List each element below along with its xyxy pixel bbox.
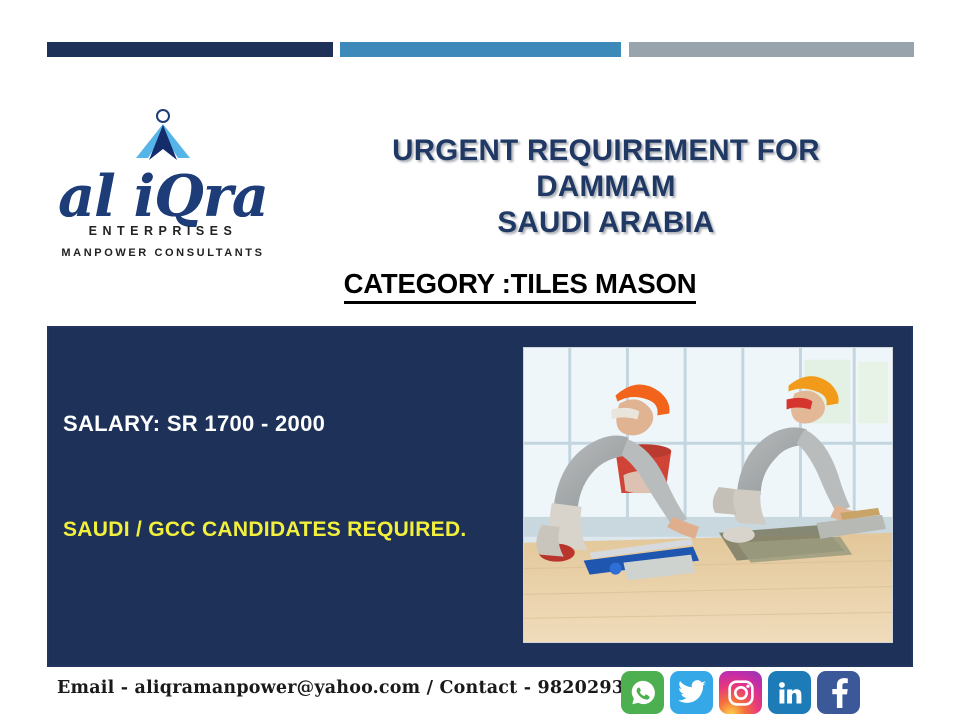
top-accent-bar-blue	[340, 42, 621, 57]
logo-subtitle-enterprises: ENTERPRISES	[89, 224, 238, 238]
linkedin-icon[interactable]	[768, 671, 811, 714]
category-text: CATEGORY :TILES MASON	[344, 268, 697, 304]
logo-wordmark: al iQra	[58, 166, 268, 228]
twitter-icon[interactable]	[670, 671, 713, 714]
facebook-icon[interactable]	[817, 671, 860, 714]
page-title: URGENT REQUIREMENT FOR DAMMAM SAUDI ARAB…	[300, 133, 912, 241]
social-links[interactable]	[621, 671, 860, 714]
top-accent-bar-navy	[47, 42, 333, 57]
salary-text: SALARY: SR 1700 - 2000	[63, 411, 325, 437]
title-line-3: SAUDI ARABIA	[300, 205, 912, 241]
candidate-requirement-text: SAUDI / GCC CANDIDATES REQUIRED.	[63, 518, 467, 542]
whatsapp-icon[interactable]	[621, 671, 664, 714]
instagram-icon[interactable]	[719, 671, 762, 714]
arrow-person-icon	[130, 108, 196, 164]
job-advert-slide: al iQra ENTERPRISES MANPOWER CONSULTANTS…	[0, 0, 960, 720]
company-logo: al iQra ENTERPRISES MANPOWER CONSULTANTS	[48, 108, 278, 288]
title-line-1: URGENT REQUIREMENT FOR	[300, 133, 912, 169]
title-line-2: DAMMAM	[300, 169, 912, 205]
category-heading: CATEGORY :TILES MASON	[240, 268, 800, 300]
job-photo	[523, 347, 893, 643]
contact-footer: Email - aliqramanpower@yahoo.com / Conta…	[57, 678, 661, 698]
tile-masons-illustration	[524, 348, 892, 642]
top-accent-bar-grey	[629, 42, 914, 57]
details-panel: SALARY: SR 1700 - 2000 SAUDI / GCC CANDI…	[47, 326, 913, 667]
logo-subtitle-manpower: MANPOWER CONSULTANTS	[61, 247, 264, 259]
